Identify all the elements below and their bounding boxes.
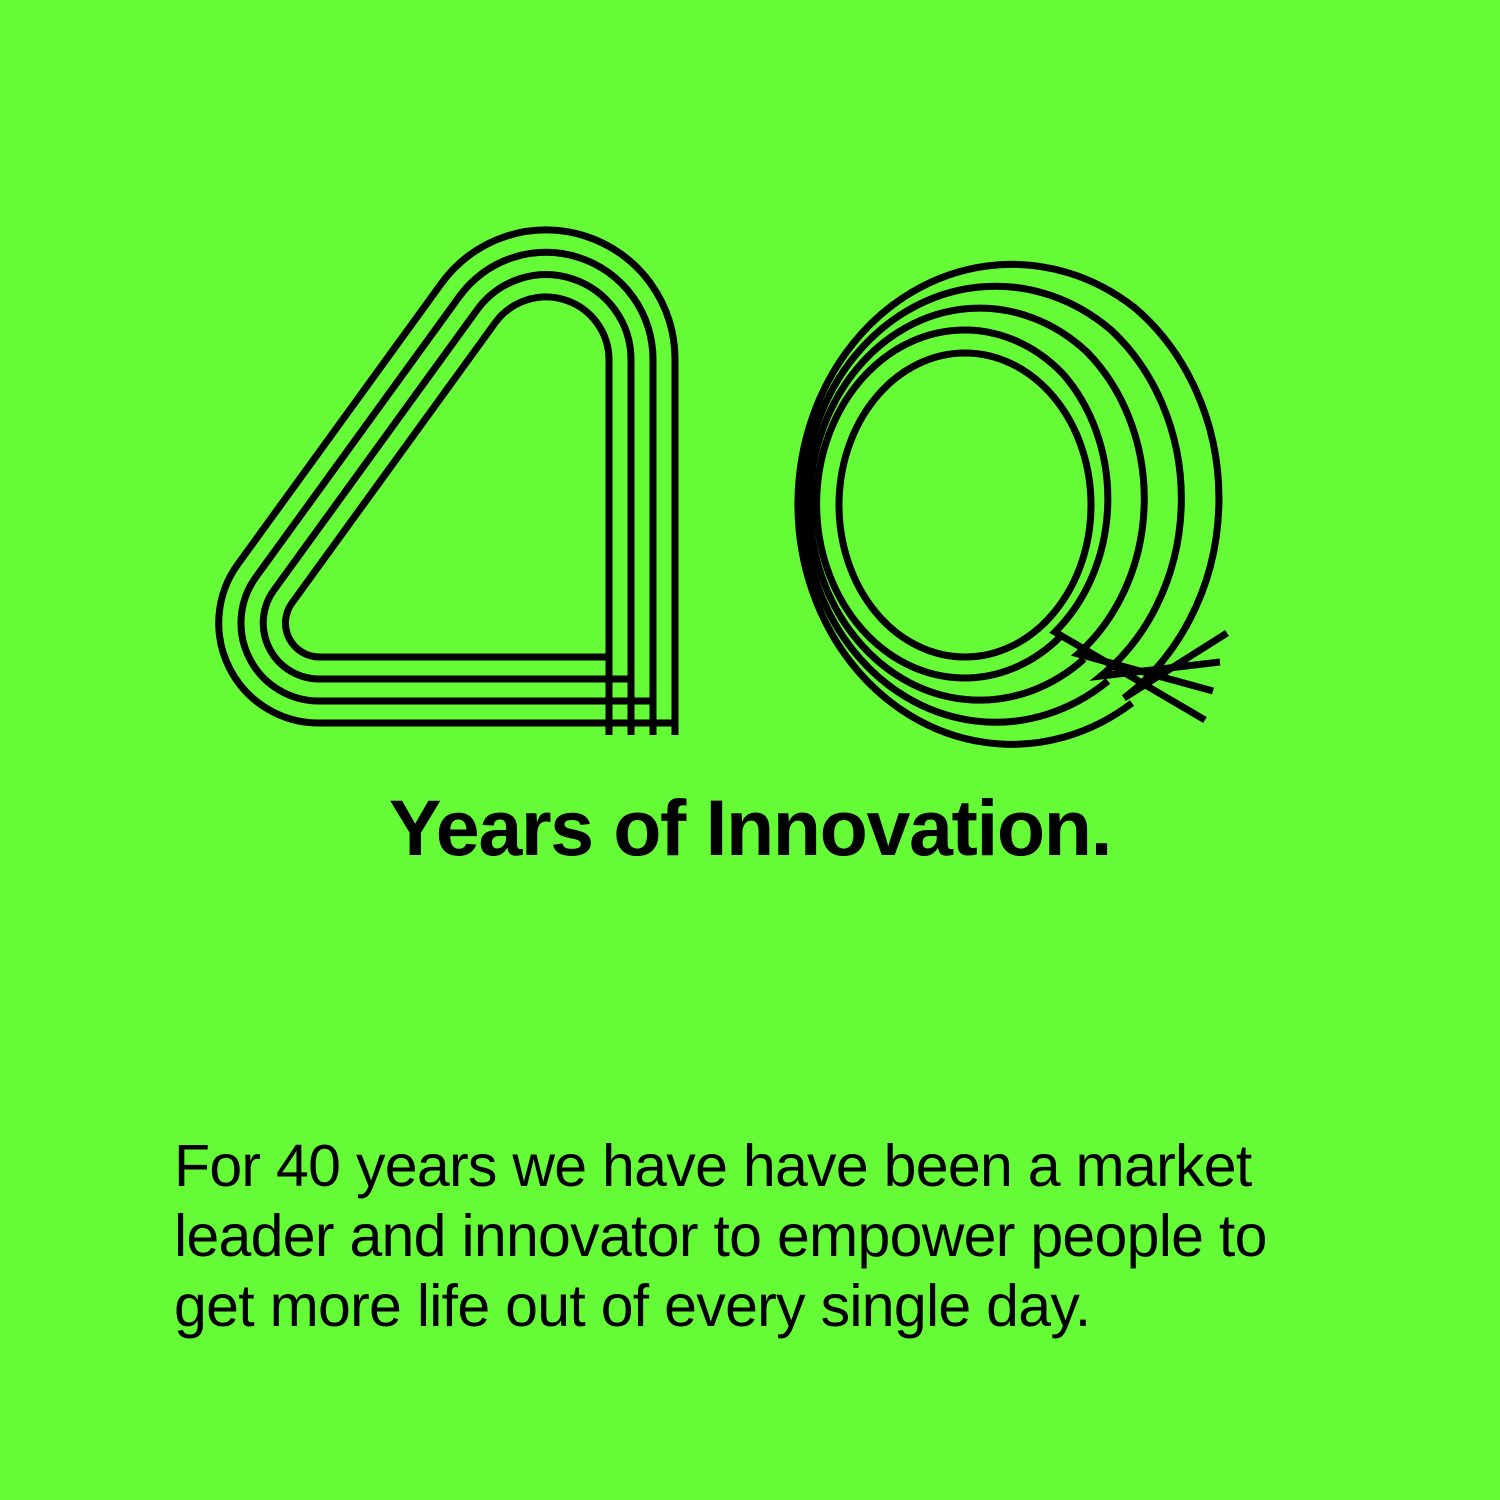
numeral-zero (798, 264, 1227, 744)
zero-inner-ring (839, 353, 1091, 657)
zero-ring-4 (804, 286, 1220, 722)
logo-artwork (0, 0, 1500, 800)
poster-canvas: Years of Innovation. For 40 years we hav… (0, 0, 1500, 1500)
anniversary-logo (0, 0, 1500, 800)
numeral-four (219, 230, 675, 735)
page-title: Years of Innovation. (0, 788, 1500, 867)
body-paragraph: For 40 years we have have been a market … (174, 1131, 1354, 1341)
